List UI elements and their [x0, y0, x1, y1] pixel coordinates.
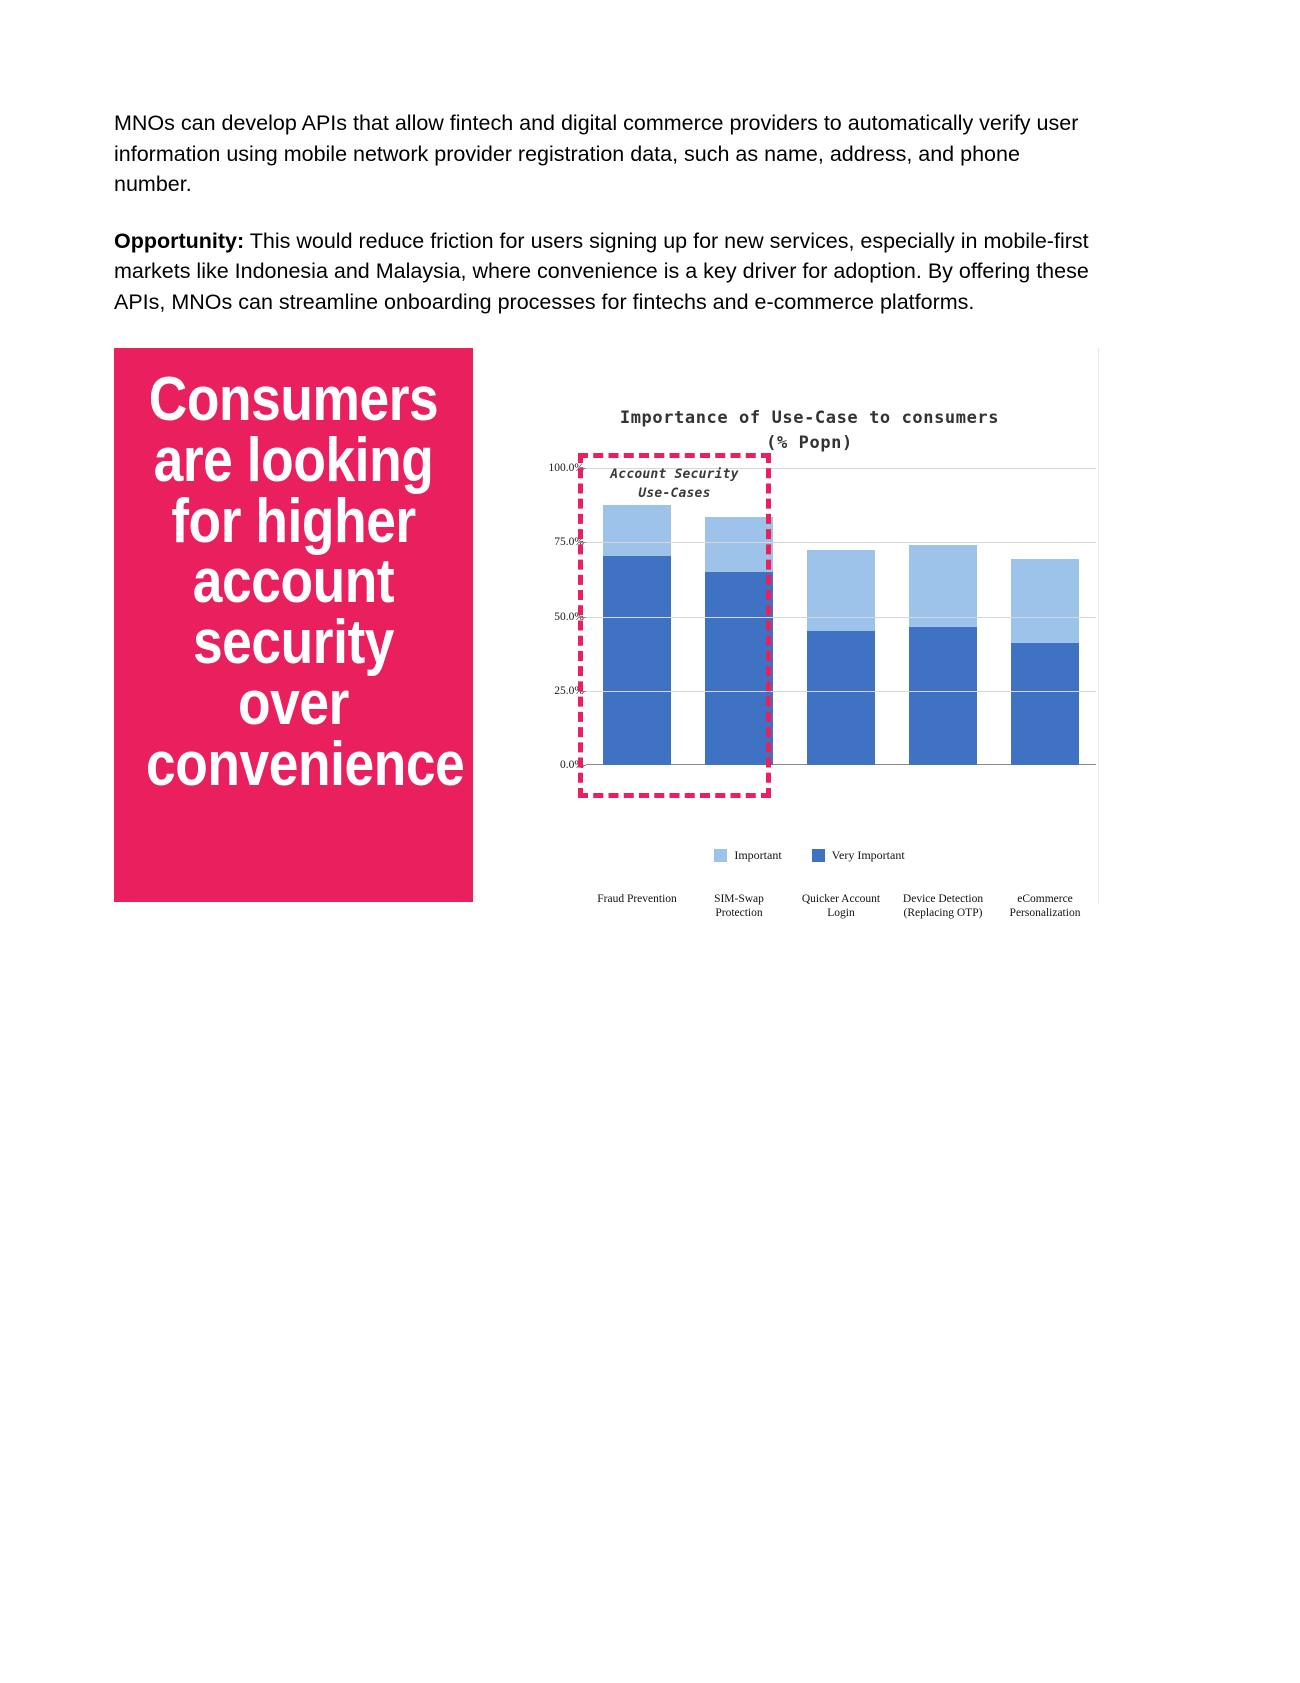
bar-segment-very-important[interactable] — [705, 572, 773, 765]
legend-item[interactable]: Very Important — [812, 848, 905, 863]
page-right-rule — [1098, 348, 1099, 904]
bar-segment-very-important[interactable] — [1011, 643, 1079, 765]
chart-title-line1: Importance of Use-Case to consumers — [620, 408, 999, 428]
y-tick-label-50: 50.0% — [514, 611, 584, 623]
y-tick-mark-75 — [579, 542, 586, 543]
bar-segment-important[interactable] — [705, 517, 773, 572]
quote-text-block: Consumers are looking for higher account… — [114, 370, 473, 795]
gridline-25 — [586, 691, 1096, 692]
document-body: MNOs can develop APIs that allow fintech… — [114, 108, 1094, 317]
legend-label: Very Important — [832, 848, 905, 863]
legend-item[interactable]: Important — [714, 848, 781, 863]
legend-swatch — [714, 849, 727, 862]
x-axis-label: eCommercePersonalization — [986, 892, 1104, 921]
quote-line-2: are looking — [146, 431, 441, 492]
bar-segment-important[interactable] — [807, 550, 875, 632]
bar-segment-very-important[interactable] — [603, 556, 671, 765]
x-axis-label: Device Detection(Replacing OTP) — [884, 892, 1002, 921]
quote-line-6: over — [146, 674, 441, 735]
chart-plot-area: 100.0%75.0%50.0%25.0%0.0%Fraud Preventio… — [586, 468, 1096, 765]
legend-label: Important — [734, 848, 781, 863]
bar-segment-important[interactable] — [909, 545, 977, 627]
x-axis-label-line: eCommerce — [986, 892, 1104, 906]
y-tick-mark-50 — [579, 617, 586, 618]
quote-line-5: security — [146, 613, 441, 674]
paragraph-1: MNOs can develop APIs that allow fintech… — [114, 108, 1094, 200]
x-axis-label-line: Protection — [680, 906, 798, 920]
y-tick-label-100: 100.0% — [514, 462, 584, 474]
paragraph-2: Opportunity: This would reduce friction … — [114, 226, 1094, 318]
annotation-line-1: Account Security — [582, 466, 767, 485]
x-axis-label: Fraud Prevention — [578, 892, 696, 906]
x-axis-label-line: Fraud Prevention — [578, 892, 696, 906]
bar-segment-important[interactable] — [603, 505, 671, 555]
x-axis-label-line: Device Detection — [884, 892, 1002, 906]
chart-panel: Importance of Use-Case to consumers (% P… — [520, 348, 1099, 904]
annotation-line-2: Use-Cases — [582, 485, 767, 504]
x-axis-label-line: SIM-Swap — [680, 892, 798, 906]
account-security-annotation: Account Security Use-Cases — [582, 466, 767, 504]
figure-row: Consumers are looking for higher account… — [114, 348, 1099, 904]
quote-line-4: account — [146, 552, 441, 613]
chart-title-line2: (% Popn) — [520, 431, 1099, 456]
opportunity-text: This would reduce friction for users sig… — [114, 229, 1089, 314]
x-axis-label: SIM-SwapProtection — [680, 892, 798, 921]
quote-line-1: Consumers — [146, 370, 441, 431]
y-tick-mark-0 — [579, 765, 586, 766]
opportunity-lead: Opportunity: — [114, 229, 244, 253]
x-axis-label-line: Quicker Account — [782, 892, 900, 906]
chart-title: Importance of Use-Case to consumers (% P… — [520, 406, 1099, 455]
bar-segment-very-important[interactable] — [909, 627, 977, 765]
quote-line-3: for higher — [146, 492, 441, 553]
gridline-75 — [586, 542, 1096, 543]
y-tick-label-0: 0.0% — [514, 759, 584, 771]
x-axis-label-line: Login — [782, 906, 900, 920]
legend-swatch — [812, 849, 825, 862]
gridline-50 — [586, 617, 1096, 618]
x-axis-label: Quicker AccountLogin — [782, 892, 900, 921]
x-axis-label-line: (Replacing OTP) — [884, 906, 1002, 920]
quote-line-7: convenience — [146, 735, 441, 796]
x-axis-label-line: Personalization — [986, 906, 1104, 920]
y-tick-label-25: 25.0% — [514, 685, 584, 697]
bar-segment-very-important[interactable] — [807, 631, 875, 765]
chart-legend: ImportantVery Important — [520, 848, 1099, 863]
y-tick-mark-25 — [579, 691, 586, 692]
bar-segment-important[interactable] — [1011, 559, 1079, 644]
y-tick-label-75: 75.0% — [514, 536, 584, 548]
quote-panel: Consumers are looking for higher account… — [114, 348, 473, 902]
